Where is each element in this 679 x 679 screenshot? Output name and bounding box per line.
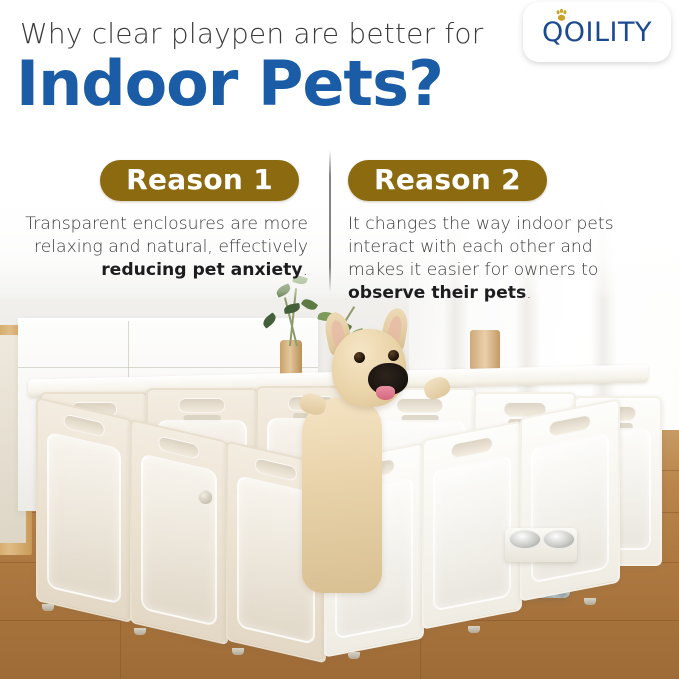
panel-latch[interactable] <box>198 490 213 505</box>
reason-2-text-emphasis: observe their pets <box>348 283 526 303</box>
dog-bowl <box>543 530 575 549</box>
panel-handle <box>178 398 225 413</box>
kicker-line: Why clear playpen are better for <box>20 17 483 50</box>
playpen-foot <box>468 626 480 633</box>
panel-handle <box>451 436 493 459</box>
playpen-panel-front <box>36 397 132 623</box>
panel-clear-window <box>141 453 217 627</box>
playpen-panel-front <box>520 398 620 601</box>
playpen-panel-front <box>130 419 228 646</box>
dog-bowl <box>509 530 541 549</box>
reason-1-badge: Reason 1 <box>100 160 299 201</box>
panel-handle <box>549 414 591 437</box>
column-divider <box>329 150 331 292</box>
reason-column-1: Reason 1 Transparent enclosures are more… <box>8 160 308 282</box>
reason-1-text-plain: Transparent enclosures are more relaxing… <box>25 214 308 257</box>
reason-1-text-emphasis: reducing pet anxiety <box>101 260 302 280</box>
panel-handle <box>158 435 199 460</box>
reason-1-text: Transparent enclosures are more relaxing… <box>8 213 308 281</box>
panel-handle <box>255 457 297 482</box>
playpen-foot <box>348 652 360 659</box>
text-overlay: Why clear playpen are better for Indoor … <box>0 0 679 300</box>
reason-2-text-tail: . <box>526 283 531 303</box>
playpen-foot <box>232 648 244 655</box>
playpen-panel-front <box>422 420 522 629</box>
page-title: Indoor Pets? <box>16 53 443 115</box>
reason-2-badge: Reason 2 <box>348 160 547 201</box>
reason-column-2: Reason 2 It changes the way indoor pets … <box>348 160 648 304</box>
paw-print-icon <box>553 7 570 24</box>
brand-logo: QOILITY <box>523 2 671 62</box>
dog-body <box>302 398 382 593</box>
panel-handle <box>64 413 105 437</box>
playpen-foot <box>134 628 146 635</box>
panel-clear-window <box>47 431 121 604</box>
reason-1-text-tail: . <box>303 260 308 280</box>
panel-clear-window <box>433 454 511 611</box>
dog-tongue <box>376 386 395 400</box>
reason-2-text: It changes the way indoor pets interact … <box>348 213 648 304</box>
dog-eye <box>354 352 365 363</box>
infographic-canvas: Why clear playpen are better for Indoor … <box>0 0 679 679</box>
playpen-foot <box>42 604 54 611</box>
playpen-foot <box>584 598 596 605</box>
dog-eye <box>388 350 399 361</box>
reason-2-text-plain: It changes the way indoor pets interact … <box>348 214 614 279</box>
panel-handle <box>396 398 443 413</box>
